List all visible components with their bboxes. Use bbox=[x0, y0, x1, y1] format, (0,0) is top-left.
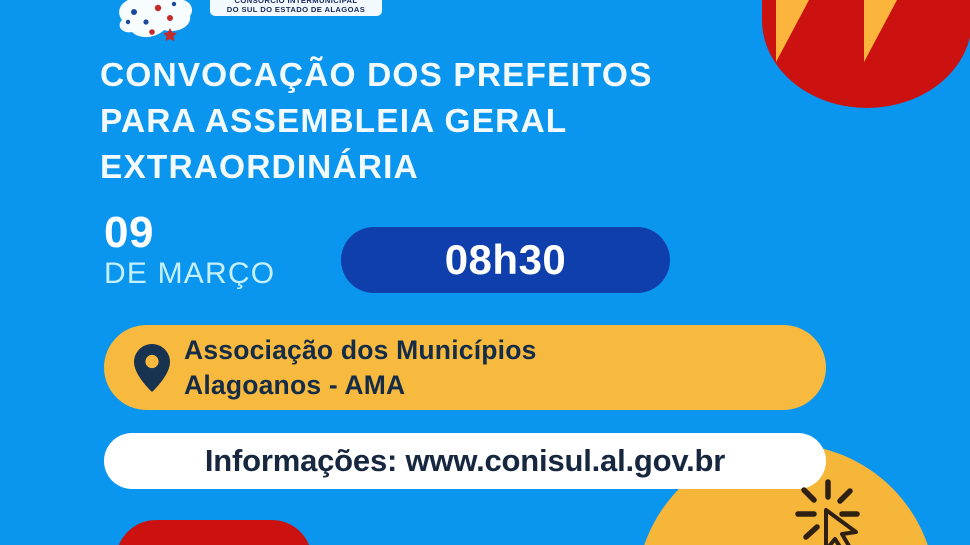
red-cloud-decoration bbox=[762, 0, 970, 108]
event-time-pill: 08h30 bbox=[341, 227, 670, 293]
headline-line-3: EXTRAORDINÁRIA bbox=[100, 145, 740, 191]
event-month: DE MARÇO bbox=[104, 254, 334, 295]
location-line-1: Associação dos Municípios bbox=[184, 333, 537, 368]
event-info-pill[interactable]: Informações: www.conisul.al.gov.br bbox=[104, 433, 826, 489]
map-pin-icon bbox=[134, 344, 170, 392]
event-location-pill: Associação dos Municípios Alagoanos - AM… bbox=[104, 325, 826, 410]
event-location-text: Associação dos Municípios Alagoanos - AM… bbox=[184, 333, 537, 403]
red-bottom-decoration bbox=[116, 520, 312, 545]
event-announcement-poster: CONISUL CONSÓRCIO INTERMUNICIPAL DO SUL … bbox=[0, 0, 970, 545]
zigzag-triangle-icon bbox=[864, 0, 930, 62]
svg-text:DO SUL DO ESTADO DE ALAGOAS: DO SUL DO ESTADO DE ALAGOAS bbox=[227, 5, 366, 14]
poster-headline: CONVOCAÇÃO DOS PREFEITOS PARA ASSEMBLEIA… bbox=[100, 53, 740, 191]
headline-line-2: PARA ASSEMBLEIA GERAL bbox=[100, 99, 740, 145]
location-line-2: Alagoanos - AMA bbox=[184, 368, 537, 403]
conisul-logo: CONISUL CONSÓRCIO INTERMUNICIPAL DO SUL … bbox=[112, 0, 384, 42]
event-date: 09 DE MARÇO bbox=[104, 212, 334, 294]
event-info-label[interactable]: Informações: www.conisul.al.gov.br bbox=[205, 443, 725, 479]
event-day: 09 bbox=[104, 212, 334, 254]
headline-line-1: CONVOCAÇÃO DOS PREFEITOS bbox=[100, 53, 740, 99]
zigzag-triangle-icon bbox=[776, 0, 842, 62]
click-cursor-icon bbox=[784, 470, 874, 545]
event-time-label: 08h30 bbox=[445, 236, 567, 284]
